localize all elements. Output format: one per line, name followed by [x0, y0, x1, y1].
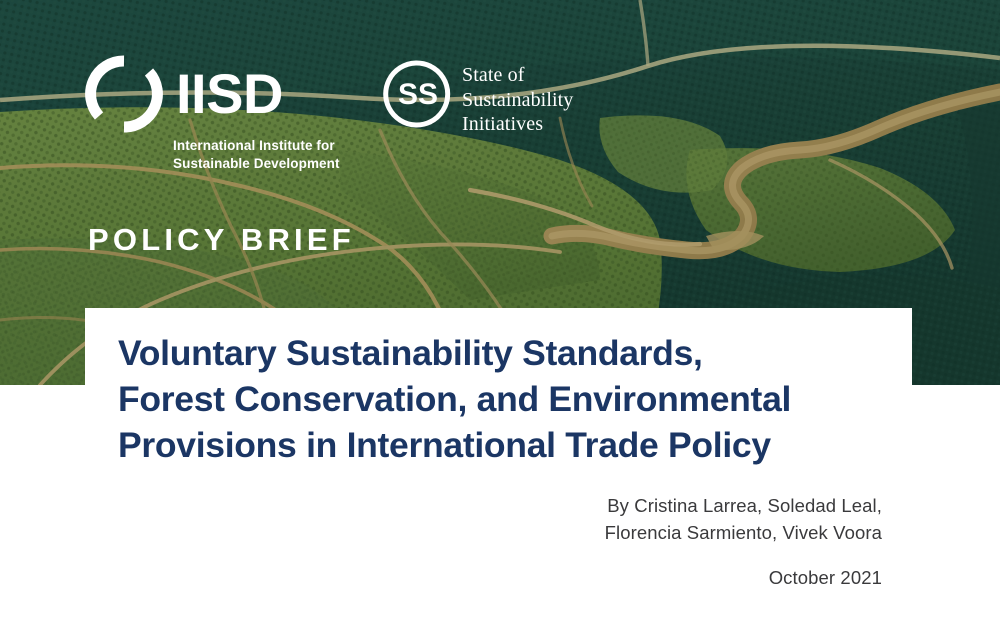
cover-page: IISD International Institute for Sustain…	[0, 0, 1000, 620]
authors: By Cristina Larrea, Soledad Leal, Floren…	[362, 492, 882, 546]
ssi-logo: SS State of Sustainability Initiatives	[378, 55, 573, 137]
policy-brief-kicker: POLICY BRIEF	[88, 222, 355, 258]
publication-date: October 2021	[362, 565, 882, 591]
ssi-wordmark: State of Sustainability Initiatives	[462, 57, 573, 137]
svg-text:SS: SS	[398, 78, 438, 111]
iisd-wordmark: IISD	[176, 65, 283, 123]
iisd-tagline: International Institute for Sustainable …	[173, 137, 370, 173]
iisd-logo: IISD International Institute for Sustain…	[85, 55, 370, 173]
ssi-monogram-icon: SS	[378, 57, 452, 131]
iisd-split-ring-icon	[85, 55, 163, 133]
page-title: Voluntary Sustainability Standards, Fore…	[118, 330, 908, 468]
byline-block: By Cristina Larrea, Soledad Leal, Floren…	[362, 492, 882, 591]
logo-row: IISD International Institute for Sustain…	[85, 55, 573, 173]
